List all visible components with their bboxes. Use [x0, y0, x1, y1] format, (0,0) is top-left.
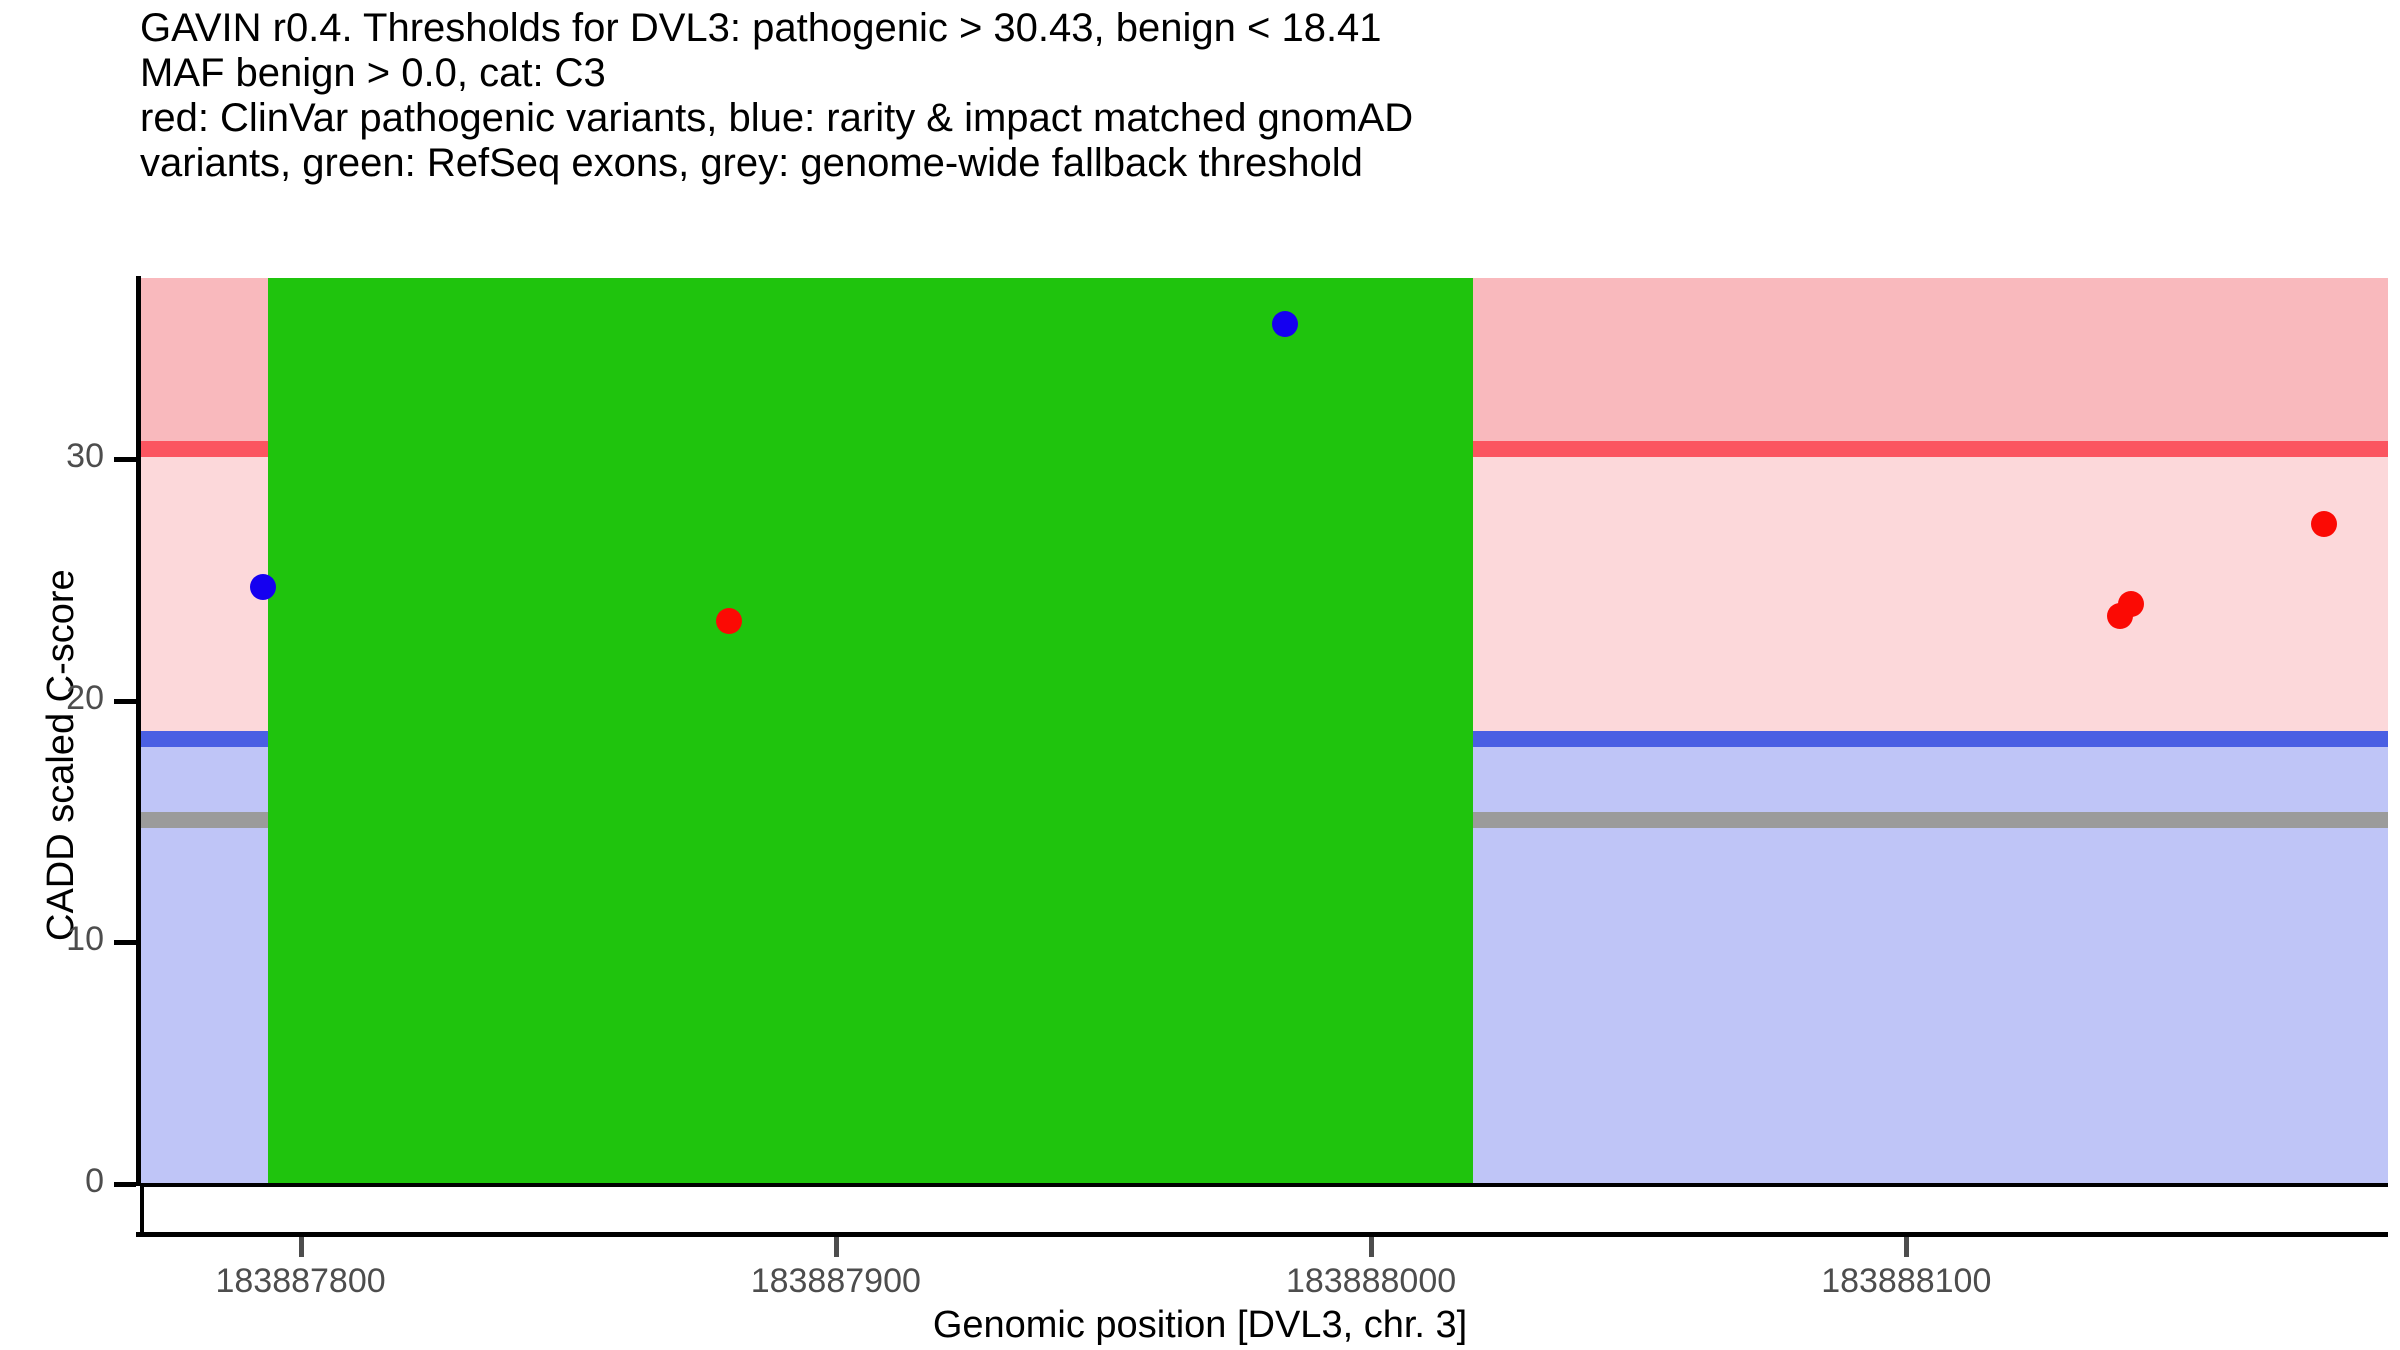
x-tick-label-183888000: 183888000 — [1221, 1262, 1521, 1301]
y-tick-label-0: 0 — [0, 1162, 104, 1201]
chart-title-block: GAVIN r0.4. Thresholds for DVL3: pathoge… — [140, 6, 2240, 186]
y-tick-mark-10 — [114, 940, 136, 945]
x-tick-label-183887900: 183887900 — [686, 1262, 986, 1301]
x-axis-title: Genomic position [DVL3, chr. 3] — [0, 1304, 2400, 1347]
y-tick-mark-30 — [114, 457, 136, 462]
title-line-3: red: ClinVar pathogenic variants, blue: … — [140, 96, 2240, 141]
title-line-4: variants, green: RefSeq exons, grey: gen… — [140, 141, 2240, 186]
x-tick-mark-183887800 — [299, 1237, 304, 1257]
x-tick-label-183888100: 183888100 — [1756, 1262, 2056, 1301]
y-axis-line — [136, 276, 141, 1186]
y-tick-mark-20 — [114, 699, 136, 704]
x-tick-mark-183887900 — [834, 1237, 839, 1257]
x-axis-line — [136, 1232, 2388, 1237]
chart-root: GAVIN r0.4. Thresholds for DVL3: pathoge… — [0, 0, 2400, 1350]
y-tick-mark-0 — [114, 1182, 136, 1187]
y-tick-label-30: 30 — [0, 437, 104, 476]
y-tick-label-10: 10 — [0, 920, 104, 959]
title-line-1: GAVIN r0.4. Thresholds for DVL3: pathoge… — [140, 6, 2240, 51]
clinvar-variant-point — [716, 608, 742, 634]
title-line-2: MAF benign > 0.0, cat: C3 — [140, 51, 2240, 96]
plot-panel — [140, 278, 2388, 1184]
panel-bottom-border — [140, 1183, 2388, 1187]
x-tick-mark-183888000 — [1369, 1237, 1374, 1257]
x-tick-label-183887800: 183887800 — [151, 1262, 451, 1301]
y-axis-title: CADD scaled C-score — [40, 569, 83, 941]
y-tick-label-20: 20 — [0, 679, 104, 718]
x-tick-mark-183888100 — [1904, 1237, 1909, 1257]
refseq-exon-0 — [268, 278, 1472, 1184]
panel-left-border — [140, 1184, 144, 1234]
